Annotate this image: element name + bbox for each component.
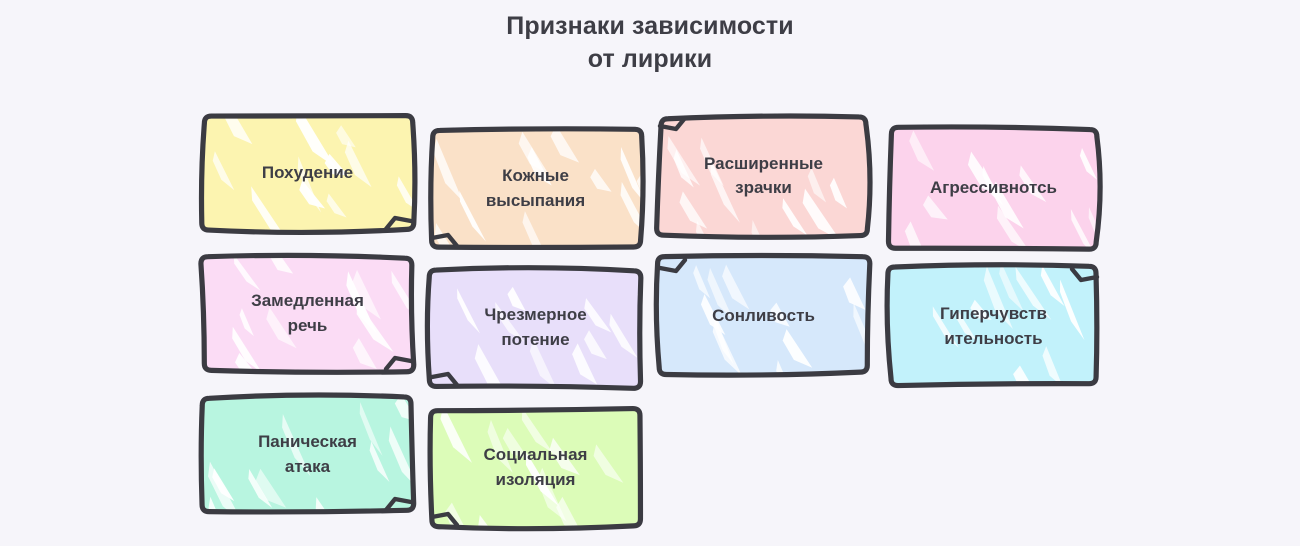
symptom-card-label: Расширенные зрачки xyxy=(659,117,868,235)
symptom-card-label: Кожные высыпания xyxy=(431,130,640,247)
diagram-canvas: Признаки зависимости от лирики Похудение… xyxy=(0,0,1300,546)
symptom-card-kozhnye-vysypaniya[interactable]: Кожные высыпания xyxy=(431,130,640,247)
symptom-card-label: Чрезмерное потение xyxy=(431,269,640,386)
symptom-card-label: Социальная изоляция xyxy=(431,409,640,526)
symptom-card-socialnaya-izolyaciya[interactable]: Социальная изоляция xyxy=(431,409,640,526)
page-title: Признаки зависимости от лирики xyxy=(0,10,1300,76)
symptom-card-pohudenie[interactable]: Похудение xyxy=(203,117,412,230)
symptom-card-sonlivost[interactable]: Сонливость xyxy=(659,259,868,374)
symptom-card-rasshirennye-zrachki[interactable]: Расширенные зрачки xyxy=(659,117,868,235)
symptom-card-panicheskaya-ataka[interactable]: Паническая атака xyxy=(203,398,412,511)
symptom-card-label: Замедленная речь xyxy=(203,257,412,370)
symptom-card-giperchuvstvitelnost[interactable]: Гиперчувств ительность xyxy=(889,268,1098,385)
symptom-card-label: Агрессивнотсь xyxy=(889,129,1098,248)
symptom-card-label: Паническая атака xyxy=(203,398,412,511)
symptom-card-zamedlennaya-rech[interactable]: Замедленная речь xyxy=(203,257,412,370)
symptom-card-chrezmernoe-potenie[interactable]: Чрезмерное потение xyxy=(431,269,640,386)
symptom-card-label: Сонливость xyxy=(659,259,868,374)
symptom-card-agressivnotsy[interactable]: Агрессивнотсь xyxy=(889,129,1098,248)
symptom-card-label: Гиперчувств ительность xyxy=(889,268,1098,385)
symptom-card-label: Похудение xyxy=(203,117,412,230)
